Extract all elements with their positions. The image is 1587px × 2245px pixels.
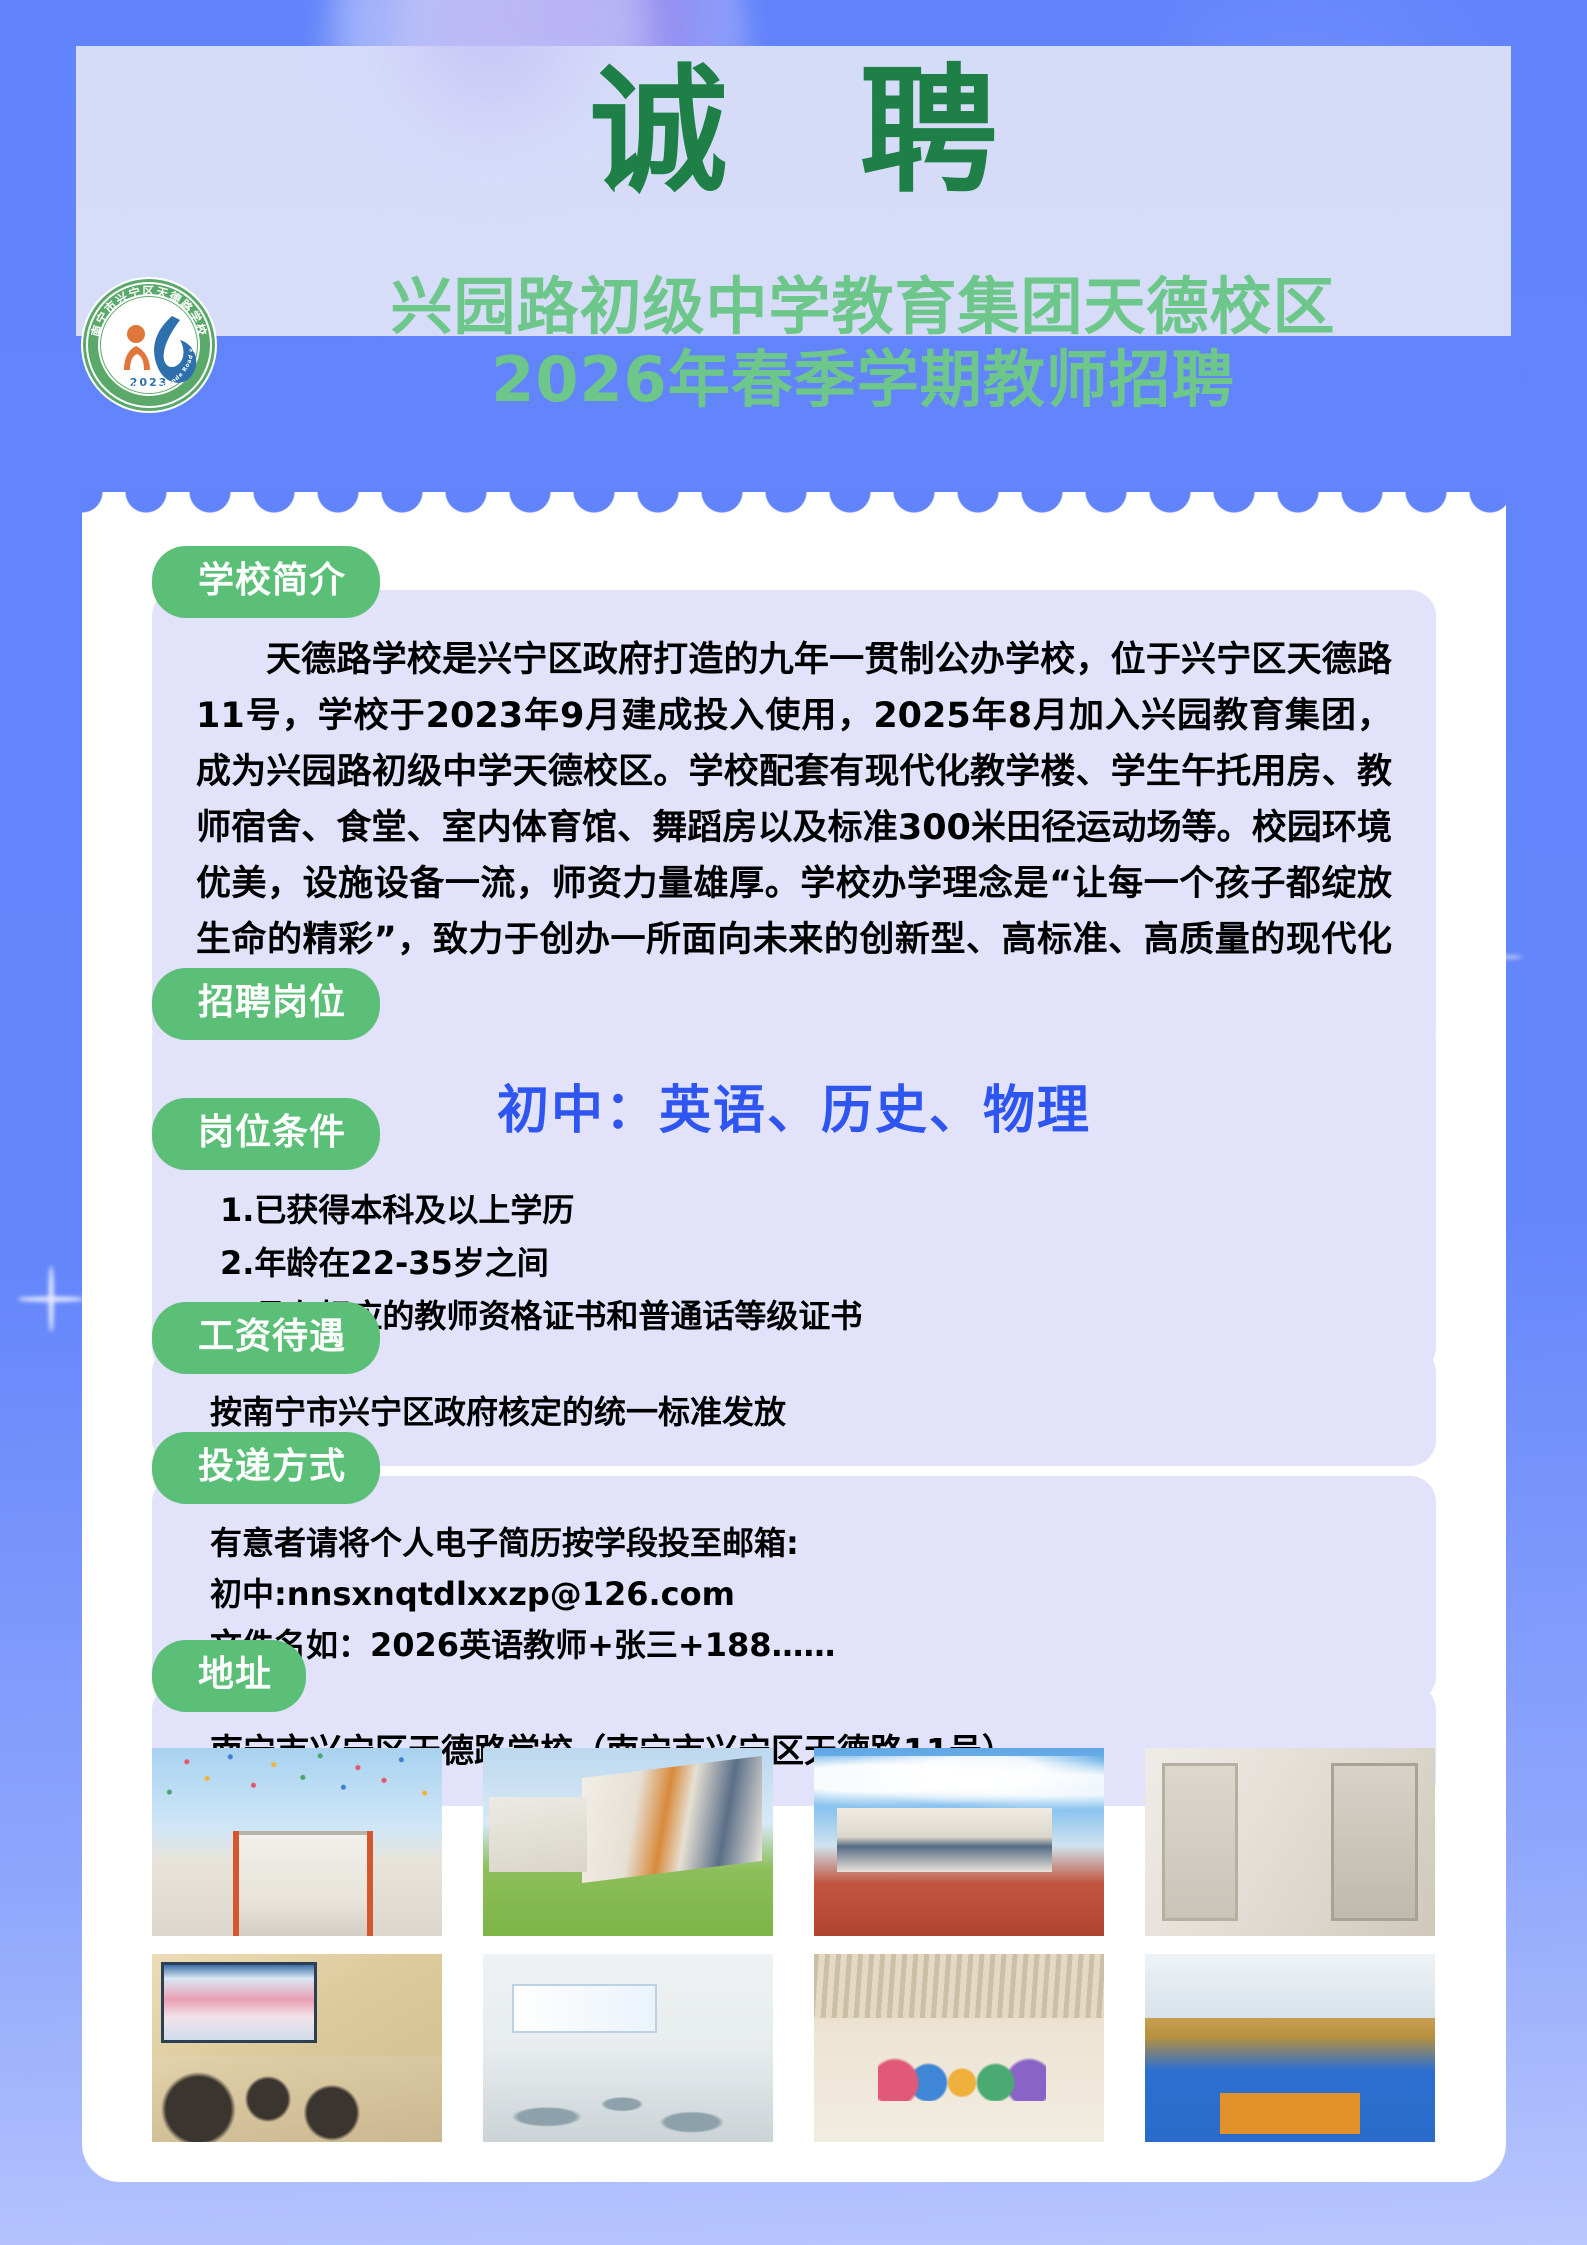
photo-track-field [814, 1748, 1104, 1936]
section-tag-apply: 投递方式 [152, 1432, 380, 1504]
section-tag-positions: 招聘岗位 [152, 968, 380, 1040]
section-tag-address: 地址 [152, 1640, 306, 1712]
poster-subtitle-group: 兴园路初级中学教育集团天德校区 2026年春季学期教师招聘 [228, 272, 1498, 415]
salary-text: 按南宁市兴宁区政府核定的统一标准发放 [196, 1388, 1392, 1436]
section-tag-school-intro: 学校简介 [152, 546, 380, 618]
campus-photo-grid [152, 1748, 1436, 2142]
subtitle-line-1: 兴园路初级中学教育集团天德校区 [228, 272, 1498, 341]
list-item: 1.已获得本科及以上学历 [196, 1184, 1392, 1237]
apply-email[interactable]: 初中:nnsxnqtdlxxzp@126.com [210, 1569, 1392, 1620]
photo-classroom-activity [152, 1954, 442, 2142]
photo-lab-room [483, 1954, 773, 2142]
list-item: 2.年龄在22-35岁之间 [196, 1237, 1392, 1290]
subtitle-line-2: 2026年春季学期教师招聘 [228, 345, 1498, 414]
school-logo: 2023 南宁市兴宁区天德路学校 Nanning Xingning Distri… [80, 276, 218, 414]
logo-figure-head [127, 325, 145, 343]
photo-campus-entrance [152, 1748, 442, 1936]
photo-teaching-building [483, 1748, 773, 1936]
photo-music-room [814, 1954, 1104, 2142]
scalloped-edge-decoration [82, 492, 1506, 534]
photo-gymnasium [1145, 1954, 1435, 2142]
recruitment-poster: 诚 聘 2023 南宁市兴宁区天德路学校 Nanning Xingning Di [0, 0, 1587, 2245]
section-tag-requirements: 岗位条件 [152, 1098, 380, 1170]
photo-dormitory [1145, 1748, 1435, 1936]
apply-instruction: 有意者请将个人电子简历按学段投至邮箱: [210, 1518, 1392, 1569]
section-tag-salary: 工资待遇 [152, 1302, 380, 1374]
sparkle-icon [18, 1266, 84, 1332]
page-title: 诚 聘 [76, 60, 1511, 205]
school-intro-text: 天德路学校是兴宁区政府打造的九年一贯制公办学校，位于兴宁区天德路11号，学校于2… [196, 632, 1392, 1024]
